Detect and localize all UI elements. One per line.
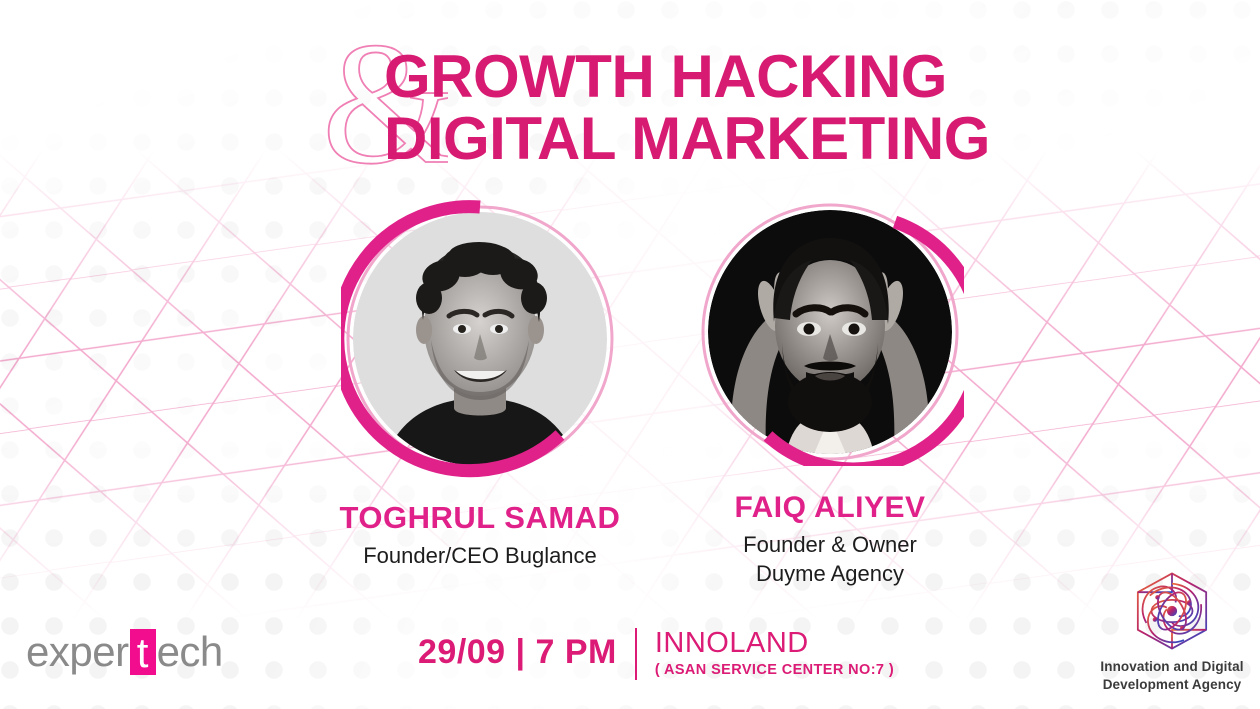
idda-hexagon-swirl-icon [1129,570,1215,652]
speaker-right-role-2: Duyme Agency [630,559,1030,589]
speaker-card-right: FAIQ ALIYEV Founder & Owner Duyme Agency [630,198,1030,589]
expertech-logo: exper t ech [26,627,223,677]
speaker-right-ring [696,198,964,466]
idda-logo: Innovation and Digital Development Agenc… [1096,570,1248,694]
expertech-part1: exper [26,631,129,673]
speaker-left-portrait [341,200,619,478]
event-venue-block: INNOLAND ( ASAN SERVICE CENTER NO:7 ) [655,628,894,678]
event-venue: INNOLAND [655,628,894,658]
speaker-left-role: Founder/CEO Buglance [280,541,680,571]
expertech-highlight-box: t [130,629,156,675]
idda-logo-text: Innovation and Digital Development Agenc… [1096,658,1248,694]
headline-line-2: DIGITAL MARKETING [384,109,990,169]
event-date-time: 29/09 | 7 PM [418,628,617,669]
event-divider [635,628,637,680]
speaker-right-role-1: Founder & Owner [630,530,1030,560]
idda-text-line2: Development Agency [1096,676,1248,694]
idda-text-line1: Innovation and Digital [1096,658,1248,676]
speaker-card-left: TOGHRUL SAMAD Founder/CEO Buglance [280,200,680,570]
headline-block: & GROWTH HACKING DIGITAL MARKETING [318,22,998,182]
speaker-left-ring [341,200,619,478]
event-venue-detail: ( ASAN SERVICE CENTER NO:7 ) [655,662,894,678]
speaker-right-name: FAIQ ALIYEV [630,492,1030,524]
event-poster: & GROWTH HACKING DIGITAL MARKETING [0,0,1260,709]
speaker-left-name: TOGHRUL SAMAD [280,502,680,535]
headline-line-1: GROWTH HACKING [384,47,947,107]
expertech-highlight-letter: t [130,632,156,674]
speaker-right-portrait [696,198,964,466]
event-info: 29/09 | 7 PM INNOLAND ( ASAN SERVICE CEN… [418,628,894,680]
expertech-part2: ech [157,631,223,673]
